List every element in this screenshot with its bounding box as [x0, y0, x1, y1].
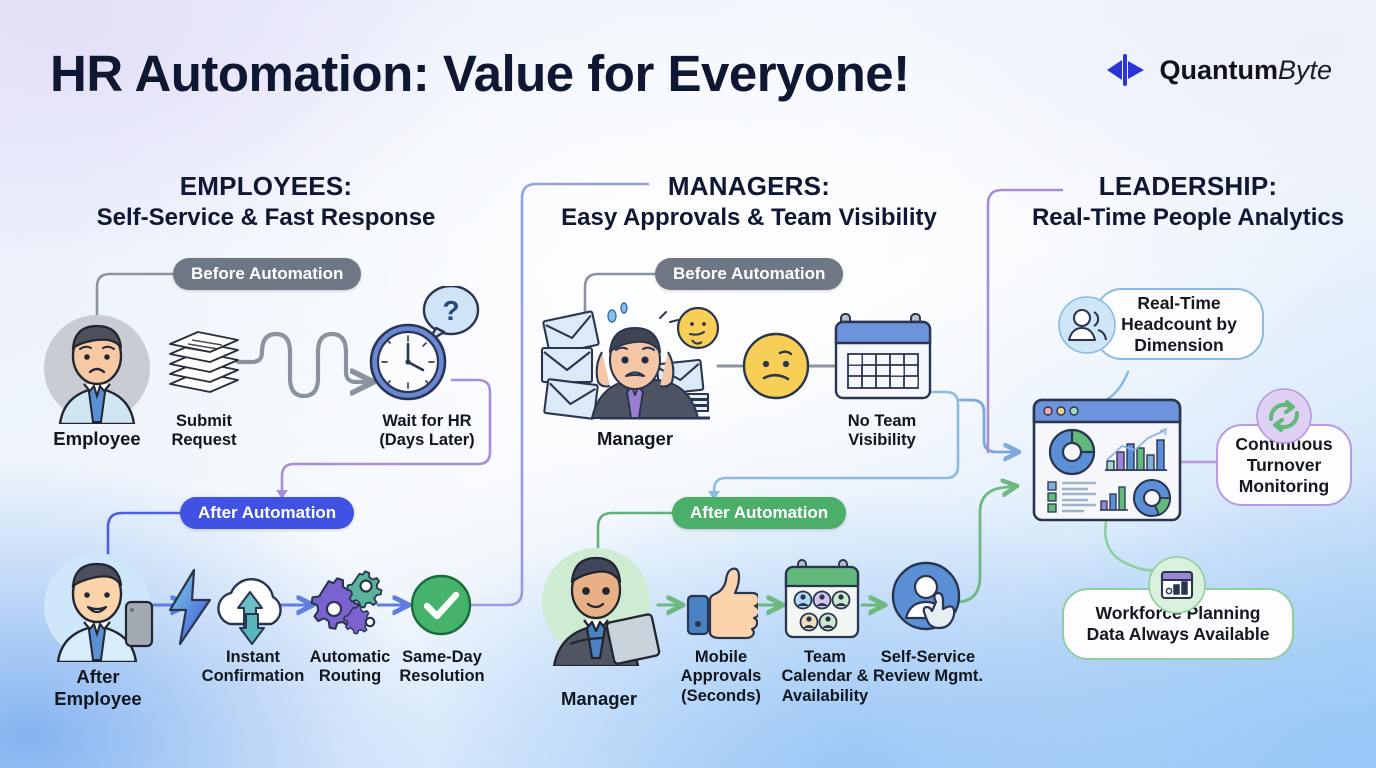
leadership-heading-line1: LEADERSHIP:	[1006, 172, 1370, 201]
column-heading-managers: MANAGERS: Easy Approvals & Team Visibili…	[534, 172, 964, 233]
green-check-circle-icon	[410, 574, 472, 636]
card-realtime-headcount-text: Real-Time Headcount by Dimension	[1121, 293, 1237, 356]
empty-calendar-icon	[832, 310, 934, 406]
self-service-user-click-icon	[890, 560, 966, 636]
paper-stack-icon	[164, 322, 244, 398]
caption-after-employee: After Employee	[28, 666, 168, 710]
caption-same-day-resolution: Same-Day Resolution	[386, 648, 498, 687]
employees-heading-line1: EMPLOYEES:	[44, 172, 488, 201]
happy-employee-phone-avatar-icon	[42, 550, 160, 662]
page-title: HR Automation: Value for Everyone!	[50, 44, 910, 103]
caption-wait-for-hr: Wait for HR (Days Later)	[352, 412, 502, 451]
pill-employees-before[interactable]: Before Automation	[173, 258, 361, 290]
sad-employee-avatar-icon	[42, 312, 152, 424]
caption-no-team-visibility: No Team Visibility	[812, 412, 952, 451]
caption-manager-after: Manager	[534, 688, 664, 710]
small-donut-chart	[1134, 480, 1170, 516]
svg-text:?: ?	[442, 295, 459, 326]
pill-managers-after[interactable]: After Automation	[672, 497, 846, 529]
employees-heading-line2: Self-Service & Fast Response	[44, 204, 488, 233]
infographic-canvas: HR Automation: Value for Everyone! Quant…	[0, 0, 1376, 768]
people-group-icon	[1058, 296, 1116, 354]
report-chart-icon	[1148, 556, 1206, 614]
brand-logo: QuantumByte	[1104, 52, 1332, 88]
pill-employees-after[interactable]: After Automation	[180, 497, 354, 529]
team-calendar-icon	[782, 558, 862, 644]
gears-icon	[308, 562, 390, 644]
card-realtime-headcount[interactable]: Real-Time Headcount by Dimension	[1094, 288, 1264, 360]
thumbs-up-icon	[686, 562, 758, 644]
cloud-sync-icon	[208, 566, 300, 646]
manager-tablet-avatar-icon	[534, 540, 668, 666]
confused-face-icon	[742, 332, 810, 400]
brand-name-light: Byte	[1278, 55, 1332, 85]
column-heading-leadership: LEADERSHIP: Real-Time People Analytics	[1006, 172, 1370, 233]
managers-heading-line2: Easy Approvals & Team Visibility	[534, 204, 964, 233]
clock-question-icon: ?	[366, 286, 486, 406]
thinking-face-icon	[678, 308, 718, 348]
pill-managers-before[interactable]: Before Automation	[655, 258, 843, 290]
brand-name: QuantumByte	[1159, 55, 1332, 86]
stressed-manager-emails-icon	[540, 300, 720, 428]
caption-employee-before: Employee	[30, 428, 164, 450]
analytics-dashboard-window-icon	[1032, 398, 1182, 522]
caption-manager-before: Manager	[570, 428, 700, 450]
leadership-heading-line2: Real-Time People Analytics	[1006, 204, 1370, 233]
caption-mobile-approvals: Mobile Approvals (Seconds)	[662, 648, 780, 706]
brand-name-bold: Quantum	[1159, 55, 1278, 85]
refresh-cycle-icon	[1256, 388, 1312, 444]
quantumbyte-logo-icon	[1104, 52, 1148, 88]
caption-submit-request: Submit Request	[148, 412, 260, 451]
donut-chart	[1050, 430, 1094, 474]
managers-heading-line1: MANAGERS:	[534, 172, 964, 201]
column-heading-employees: EMPLOYEES: Self-Service & Fast Response	[44, 172, 488, 233]
caption-self-service-review: Self-Service Review Mgmt.	[862, 648, 994, 687]
